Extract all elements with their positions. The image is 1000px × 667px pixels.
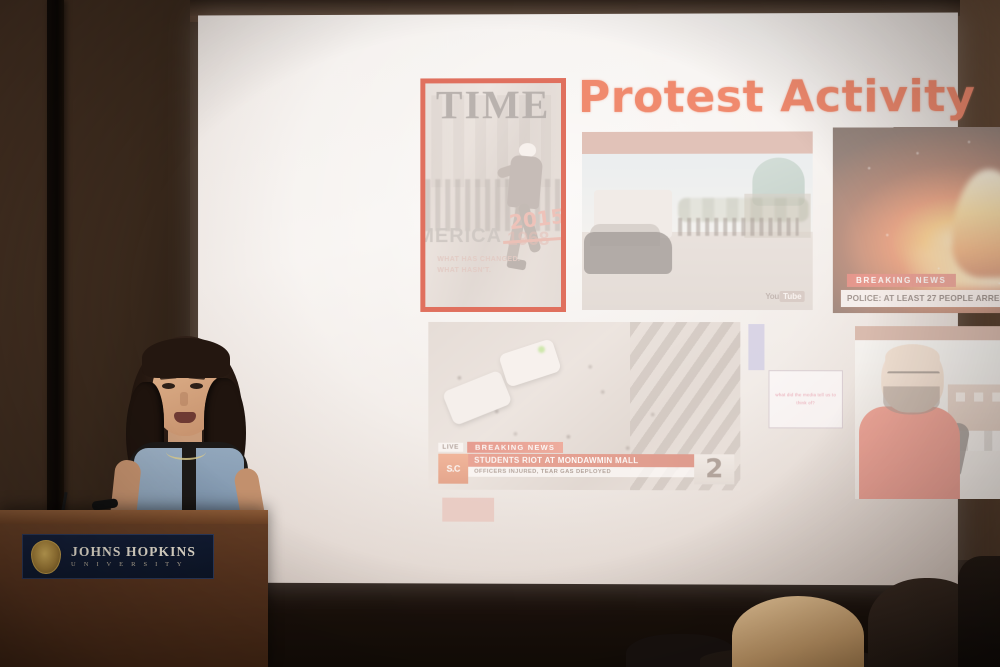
- wbal-headline: STUDENTS RIOT AT MONDAWMIN MALL: [468, 454, 694, 468]
- slide-title: Protest Activity: [578, 71, 975, 123]
- time-subtitle: WHAT HAS CHANGED. WHAT HASN'T.: [437, 255, 520, 276]
- quote-text: what did the media tell us to think of?: [773, 391, 837, 408]
- aerial-crowd-photo: LIVE BREAKING NEWS S.C STUDENTS RIOT AT …: [428, 322, 740, 490]
- street-protest-photo: You Tube: [582, 131, 813, 310]
- cnn-headline: POLICE: AT LEAST 27 PEOPLE ARRESTED IN B…: [841, 290, 1000, 307]
- interviewer: [859, 344, 956, 499]
- university-subtitle: U N I V E R S I T Y: [71, 561, 196, 568]
- time-subtitle-line2: WHAT HASN'T.: [437, 266, 520, 277]
- decorative-block: [442, 498, 494, 522]
- glasses-icon: [887, 371, 939, 380]
- car: [584, 232, 672, 274]
- decorative-block: [748, 324, 764, 370]
- wbal-subheadline: OFFICERS INJURED, TEAR GAS DEPLOYED: [468, 467, 694, 478]
- channel-number: 2: [694, 454, 734, 484]
- wbal-lower-third: LIVE BREAKING NEWS S.C STUDENTS RIOT AT …: [438, 442, 734, 485]
- breaking-news-label: BREAKING NEWS: [467, 442, 563, 453]
- time-subtitle-line1: WHAT HAS CHANGED.: [437, 255, 520, 266]
- shield-crest-icon: [31, 540, 61, 574]
- necklace: [166, 444, 206, 460]
- quote-text-box: what did the media tell us to think of?: [768, 370, 842, 428]
- interview-photo: You Tube: [855, 326, 1000, 499]
- audience-person: [958, 556, 1000, 667]
- breaking-news-label: BREAKING NEWS: [847, 274, 956, 287]
- projection-screen: Protest Activity TIME MERICA 1968 2015 W: [198, 13, 958, 586]
- audience-head: [732, 596, 864, 667]
- youtube-word-tube: Tube: [780, 291, 805, 302]
- youtube-watermark: You Tube: [765, 291, 804, 302]
- presentation-scene: Protest Activity TIME MERICA 1968 2015 W: [0, 0, 1000, 667]
- time-masthead: TIME: [425, 85, 561, 125]
- station-logo: S.C: [438, 454, 468, 484]
- time-magazine-cover: TIME MERICA 1968 2015 WHAT HAS CHANGED. …: [420, 78, 566, 312]
- university-name: JOHNS HOPKINS: [71, 545, 196, 559]
- distant-crowd: [678, 218, 799, 236]
- fire-aerial-photo: WJZ Baltimore 4:02 PM ET BREAKING NEWS P…: [833, 127, 1000, 313]
- youtube-word-you: You: [765, 292, 779, 301]
- live-label: LIVE: [438, 443, 463, 452]
- cnn-lower-third: BREAKING NEWS POLICE: AT LEAST 27 PEOPLE…: [833, 270, 1000, 307]
- time-headline-primary: MERICA: [420, 225, 502, 248]
- podium-plaque: JOHNS HOPKINS U N I V E R S I T Y: [22, 534, 214, 579]
